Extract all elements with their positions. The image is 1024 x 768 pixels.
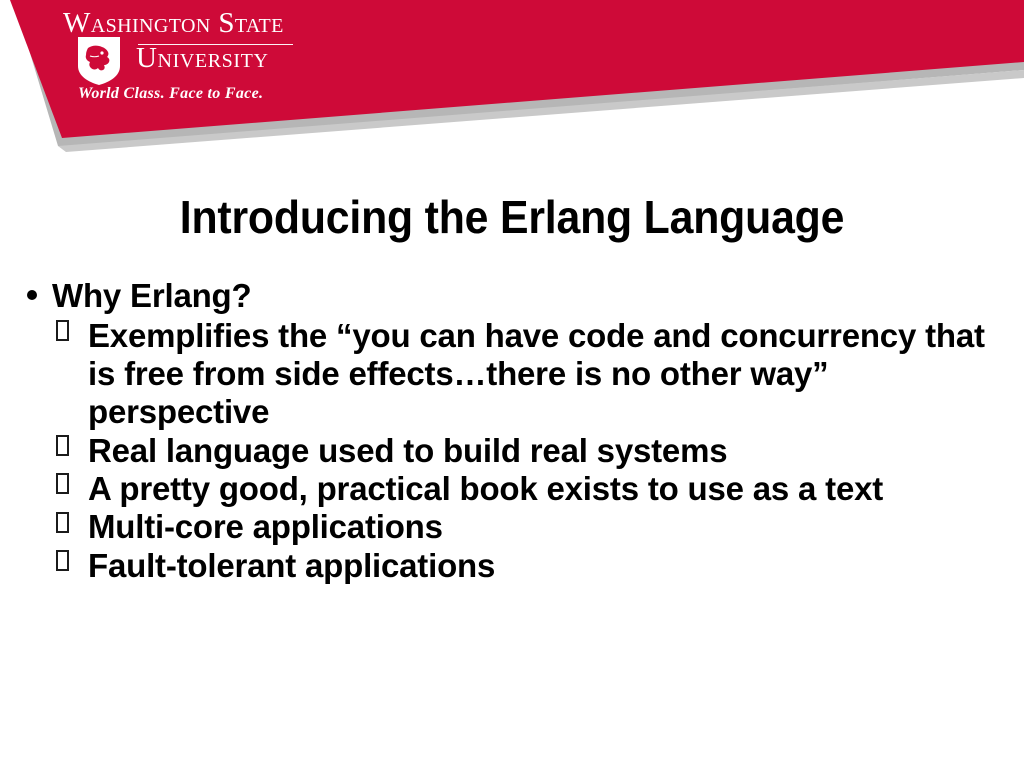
presentation-slide: Washington State University World Class.… [0,0,1024,768]
slide-title: Introducing the Erlang Language [36,192,988,243]
wsu-cougar-crest-icon [76,36,122,86]
slide-body-content: Why Erlang? Exemplifies the “you can hav… [22,278,1014,585]
round-bullet-icon [27,290,37,300]
bullet-item-level1: Why Erlang? [22,278,1014,315]
missing-glyph-box-icon [56,320,69,341]
bullet-text: Real language used to build real systems [88,432,1014,470]
bullet-text: Exemplifies the “you can have code and c… [88,317,1014,432]
bullet-item-level2: Fault-tolerant applications [22,547,1014,585]
wsu-logo-lockup: Washington State University World Class.… [0,0,330,120]
bullet-text: Multi-core applications [88,508,1014,546]
bullet-item-level2: Real language used to build real systems [22,432,1014,470]
missing-glyph-box-icon [56,435,69,456]
missing-glyph-box-icon [56,473,69,494]
bullet-text: A pretty good, practical book exists to … [88,470,1014,508]
bullet-item-level2: Multi-core applications [22,508,1014,546]
bullet-text: Fault-tolerant applications [88,547,1014,585]
bullet-item-level2: A pretty good, practical book exists to … [22,470,1014,508]
brand-tagline: World Class. Face to Face. [78,85,263,103]
missing-glyph-box-icon [56,550,69,571]
brand-line-washington-state: Washington State [63,9,284,38]
bullet-text: Why Erlang? [52,278,1014,315]
missing-glyph-box-icon [56,512,69,533]
bullet-item-level2: Exemplifies the “you can have code and c… [22,317,1014,432]
brand-line-university: University [136,44,269,73]
